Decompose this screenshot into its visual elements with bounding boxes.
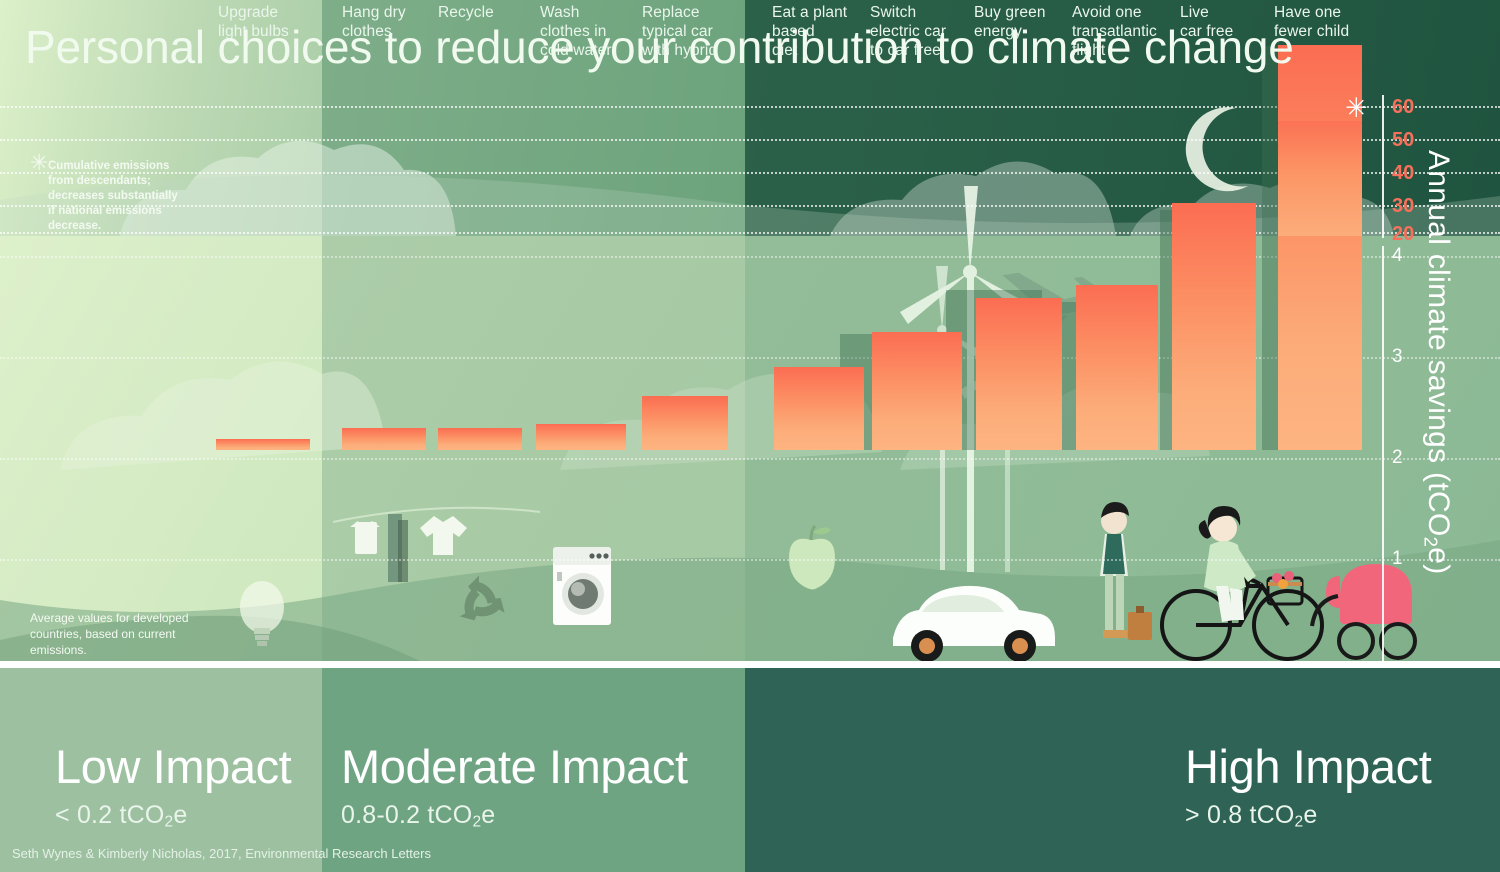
y-tick-2: 2 bbox=[1392, 447, 1403, 469]
y-tick-4: 4 bbox=[1392, 245, 1403, 267]
impact-range-moderate-sub: 2 bbox=[472, 813, 481, 830]
bar-buy-green-energy bbox=[976, 298, 1062, 450]
impact-title-moderate: Moderate Impact bbox=[341, 740, 688, 794]
impact-title-high: High Impact bbox=[1185, 740, 1431, 794]
bar-series bbox=[0, 0, 1500, 661]
bar-replace-car-hybrid bbox=[642, 396, 728, 450]
impact-range-low-sub: 2 bbox=[165, 813, 174, 830]
impact-range-high-pre: > 0.8 tCO bbox=[1185, 801, 1295, 829]
y-axis-title-sub: 2 bbox=[1420, 537, 1441, 548]
impact-zone-moderate: Moderate Impact 0.8-0.2 tCO2e bbox=[341, 740, 688, 831]
bar-have-one-fewer-child-upper bbox=[1278, 121, 1362, 236]
y-tick-40: 40 bbox=[1392, 162, 1414, 185]
y-tick-30: 30 bbox=[1392, 195, 1414, 218]
bar-plant-based-diet bbox=[774, 367, 864, 450]
y-tick-1: 1 bbox=[1392, 548, 1403, 570]
footnote-cumulative-emissions: Cumulative emissions from descendants; d… bbox=[48, 159, 238, 234]
bar-wash-clothes-cold bbox=[536, 424, 626, 450]
impact-zone-low: Low Impact < 0.2 tCO2e bbox=[55, 740, 291, 831]
impact-range-low: < 0.2 tCO2e bbox=[55, 801, 291, 831]
bar-live-car-free bbox=[1172, 203, 1256, 450]
impact-range-moderate-pre: 0.8-0.2 tCO bbox=[341, 801, 472, 829]
bar-recycle bbox=[438, 428, 522, 450]
y-axis-title-main: Annual climate savings (tCO bbox=[1422, 150, 1455, 537]
impact-range-high-sub: 2 bbox=[1295, 813, 1304, 830]
infographic-root: Upgrade light bulbs Hang dry clothes Rec… bbox=[0, 0, 1500, 872]
asterisk-marker-bar: ✳ bbox=[1345, 95, 1368, 122]
y-axis-line-upper bbox=[1382, 95, 1384, 238]
axis-baseline bbox=[0, 661, 1500, 668]
asterisk-marker-note: ✳ bbox=[30, 152, 48, 174]
footnote-average-values: Average values for developed countries, … bbox=[30, 610, 240, 658]
y-tick-60: 60 bbox=[1392, 96, 1414, 119]
impact-range-high-post: e bbox=[1303, 801, 1317, 829]
impact-range-moderate-post: e bbox=[481, 801, 495, 829]
bar-upgrade-light-bulbs bbox=[216, 439, 310, 450]
y-tick-50: 50 bbox=[1392, 129, 1414, 152]
y-axis-title-tail: e) bbox=[1422, 547, 1455, 574]
impact-range-high: > 0.8 tCO2e bbox=[1185, 801, 1431, 831]
y-axis-line-lower bbox=[1382, 246, 1384, 661]
bar-avoid-transatlantic-flight bbox=[1076, 285, 1158, 450]
impact-zone-high: High Impact > 0.8 tCO2e bbox=[1185, 740, 1431, 831]
y-tick-3: 3 bbox=[1392, 346, 1403, 368]
bar-switch-electric-car bbox=[872, 332, 962, 450]
y-axis-title: Annual climate savings (tCO2e) bbox=[1419, 150, 1455, 580]
source-credit: Seth Wynes & Kimberly Nicholas, 2017, En… bbox=[12, 846, 431, 861]
page-title: Personal choices to reduce your contribu… bbox=[25, 20, 1294, 74]
impact-title-low: Low Impact bbox=[55, 740, 291, 794]
bar-hang-dry-clothes bbox=[342, 428, 426, 450]
impact-range-low-post: e bbox=[173, 801, 187, 829]
impact-range-low-pre: < 0.2 tCO bbox=[55, 801, 165, 829]
impact-range-moderate: 0.8-0.2 tCO2e bbox=[341, 801, 688, 831]
y-tick-20: 20 bbox=[1392, 223, 1414, 246]
